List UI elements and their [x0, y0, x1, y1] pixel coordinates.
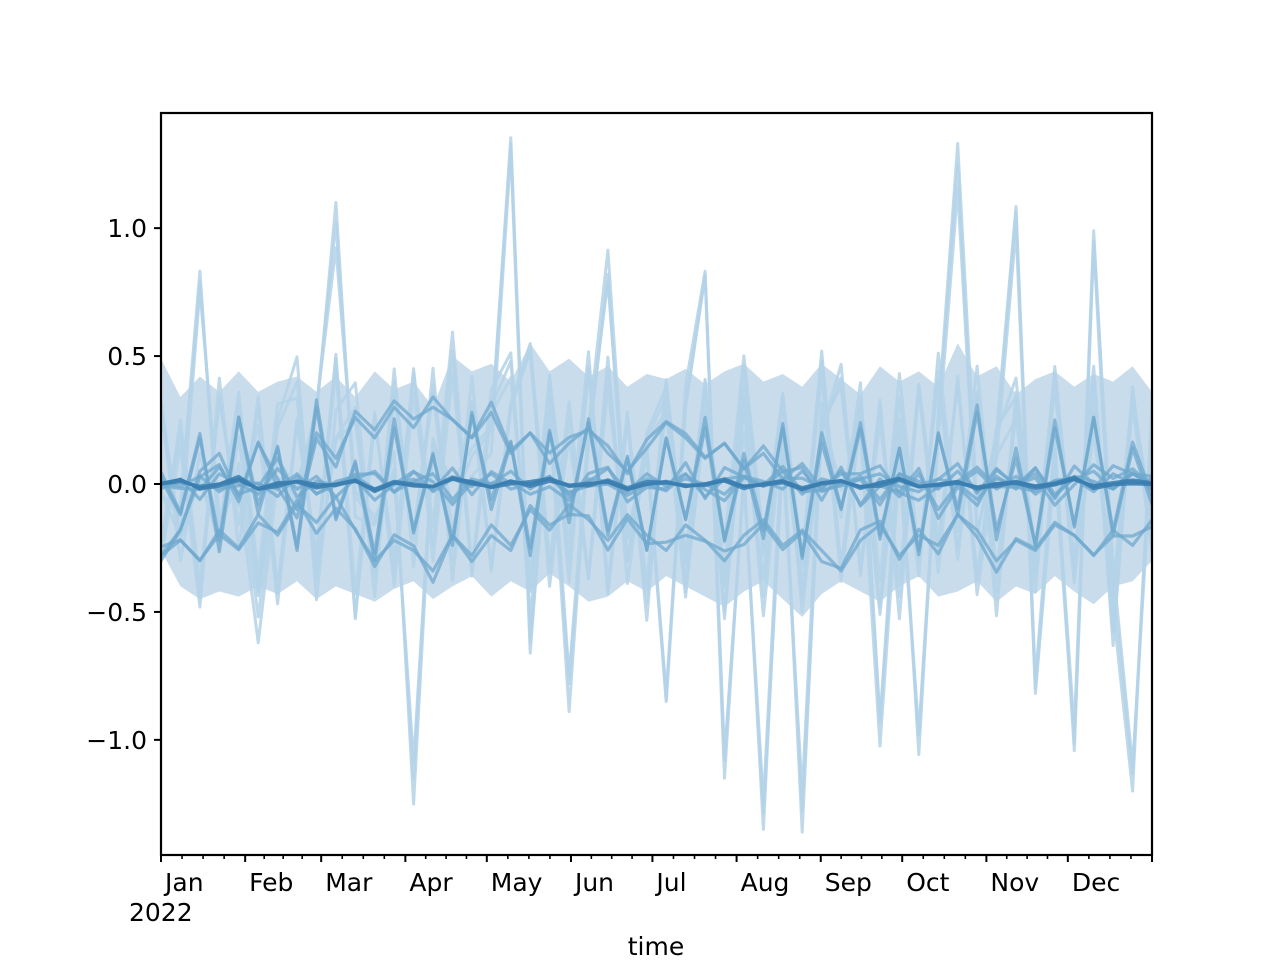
- y-tick-label: 0.0: [107, 470, 147, 499]
- figure-canvas: −1.0−0.50.00.51.0 Jan2022FebMarAprMayJun…: [0, 0, 1280, 960]
- x-tick-label: Jan: [163, 868, 204, 897]
- y-tick-label: −1.0: [86, 726, 147, 755]
- x-tick-label: Aug: [741, 868, 790, 897]
- plot-area: [161, 138, 1152, 832]
- x-tick-label: Nov: [990, 868, 1039, 897]
- x-tick-label: Oct: [906, 868, 949, 897]
- x-tick-labels: Jan2022FebMarAprMayJunJulAugSepOctNovDec: [129, 868, 1120, 927]
- x-tick-label: Dec: [1072, 868, 1120, 897]
- series-lines: [161, 138, 1152, 832]
- x-tick-label: Mar: [325, 868, 373, 897]
- y-tick-label: 0.5: [107, 342, 147, 371]
- line-chart: −1.0−0.50.00.51.0 Jan2022FebMarAprMayJun…: [0, 0, 1280, 960]
- x-tick-label: Apr: [409, 868, 453, 897]
- x-tick-label: Jun: [573, 868, 614, 897]
- y-tick-label: −0.5: [86, 598, 147, 627]
- x-tick-label: Feb: [249, 868, 293, 897]
- x-tick-label: Sep: [825, 868, 872, 897]
- x-axis-title: time: [628, 932, 684, 960]
- x-tick-label: Jul: [654, 868, 686, 897]
- y-tick-label: 1.0: [107, 214, 147, 243]
- x-tick-label: May: [491, 868, 543, 897]
- y-tick-labels: −1.0−0.50.00.51.0: [86, 214, 147, 755]
- x-tick-sublabel-year: 2022: [129, 898, 193, 927]
